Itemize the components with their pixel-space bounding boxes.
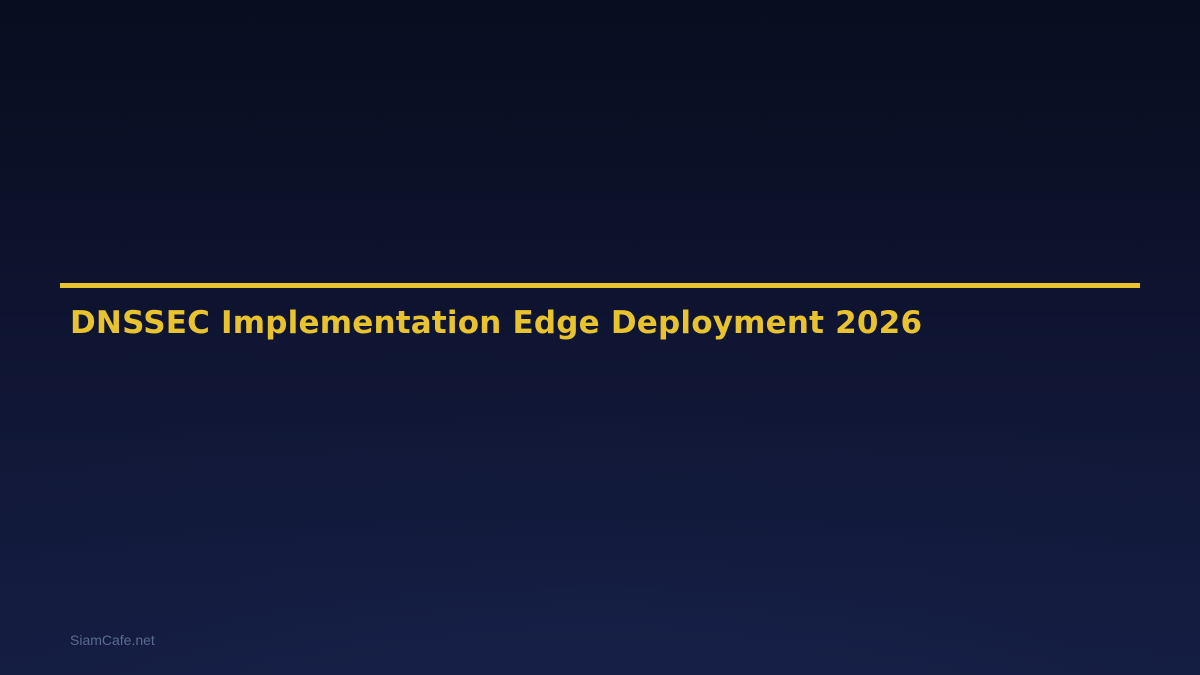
footer-brand-label: SiamCafe.net: [70, 631, 155, 649]
accent-rule-divider: [60, 283, 1140, 288]
title-slide: DNSSEC Implementation Edge Deployment 20…: [0, 0, 1200, 675]
page-title: DNSSEC Implementation Edge Deployment 20…: [70, 303, 922, 343]
